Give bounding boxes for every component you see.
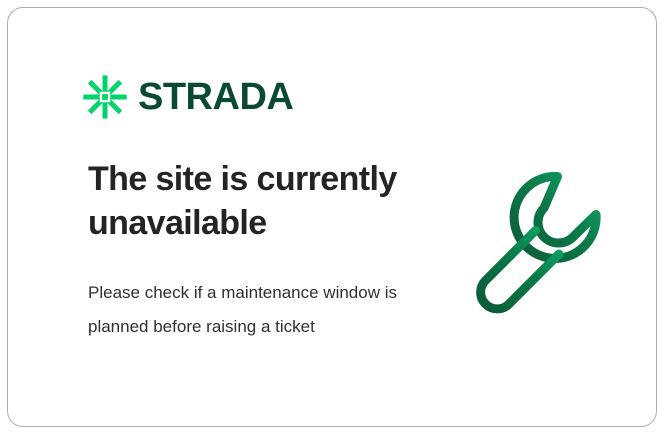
brand-lockup: STRADA: [82, 74, 293, 120]
status-card: STRADA The site is currently unavailable…: [7, 7, 657, 427]
error-page: STRADA The site is currently unavailable…: [0, 0, 666, 436]
wrench-icon: [463, 160, 618, 320]
strada-asterisk-icon: [82, 74, 128, 120]
page-description: Please check if a maintenance window is …: [88, 276, 398, 344]
page-title: The site is currently unavailable: [88, 158, 448, 245]
brand-wordmark: STRADA: [138, 78, 293, 116]
